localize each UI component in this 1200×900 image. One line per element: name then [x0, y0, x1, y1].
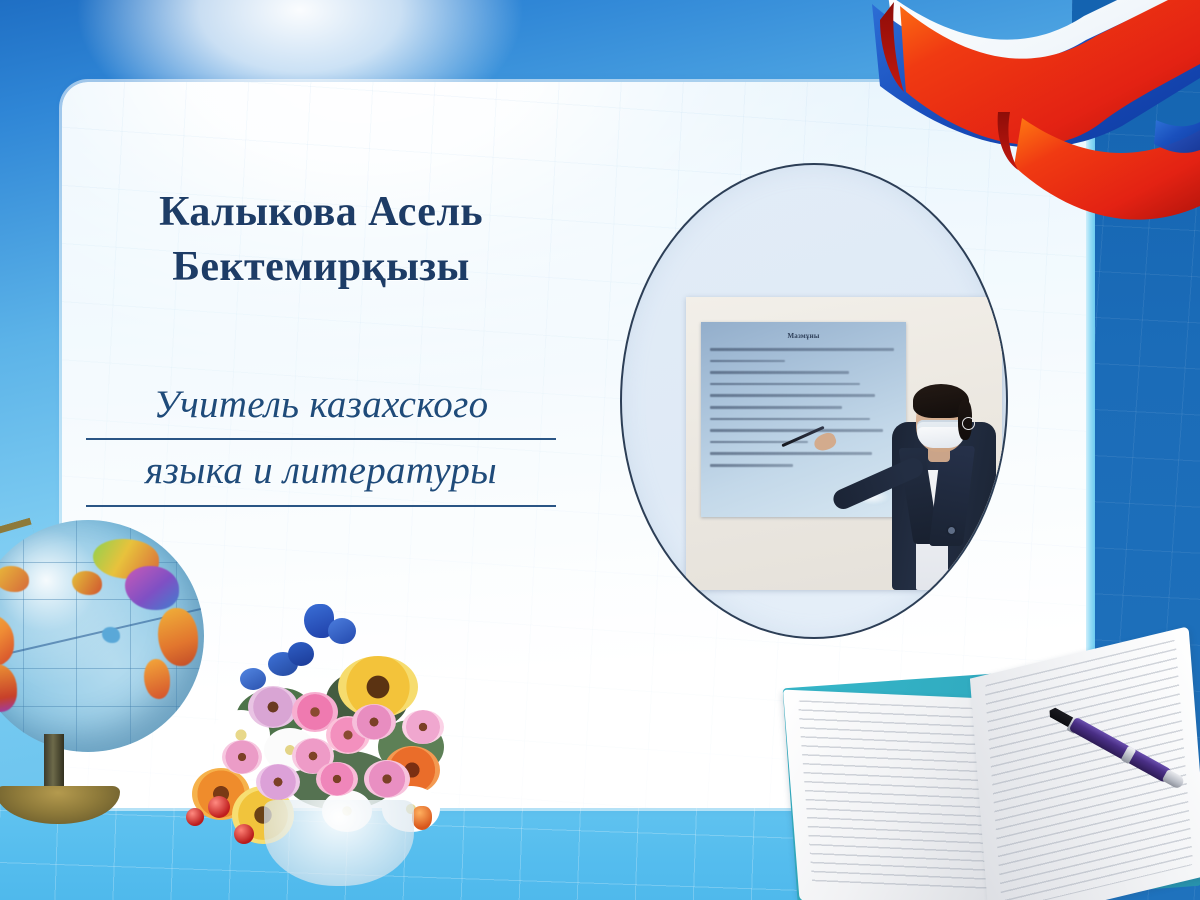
projected-slide-heading: Мазмұны: [701, 332, 906, 340]
globe: [0, 520, 222, 850]
teacher-photo: Мазмұны: [686, 297, 1002, 590]
open-book: [790, 648, 1200, 900]
teacher-role-line-1: Учитель казахского: [86, 374, 556, 440]
bouquet-vase: [264, 800, 414, 886]
teacher-figure: [872, 340, 1002, 590]
projected-slide-lines: [710, 348, 898, 476]
teacher-name-line-1: Калыкова Асель: [86, 185, 556, 240]
teacher-name-line-2: Бектемирқызы: [86, 240, 556, 295]
presentation-slide: Калыкова Асель Бектемирқызы Учитель каза…: [0, 0, 1200, 900]
book-page-right: [970, 626, 1200, 900]
ribbon-svg: [870, 0, 1200, 235]
earring: [962, 417, 975, 430]
globe-sphere: [0, 520, 204, 752]
flower-bouquet: [196, 600, 496, 900]
tricolor-ribbon: [870, 0, 1200, 235]
teacher-role-line-2: языка и литературы: [86, 440, 556, 506]
text-block: Калыкова Асель Бектемирқызы Учитель каза…: [86, 185, 556, 507]
teacher-role: Учитель казахского языка и литературы: [86, 374, 556, 507]
globe-base: [0, 786, 120, 824]
